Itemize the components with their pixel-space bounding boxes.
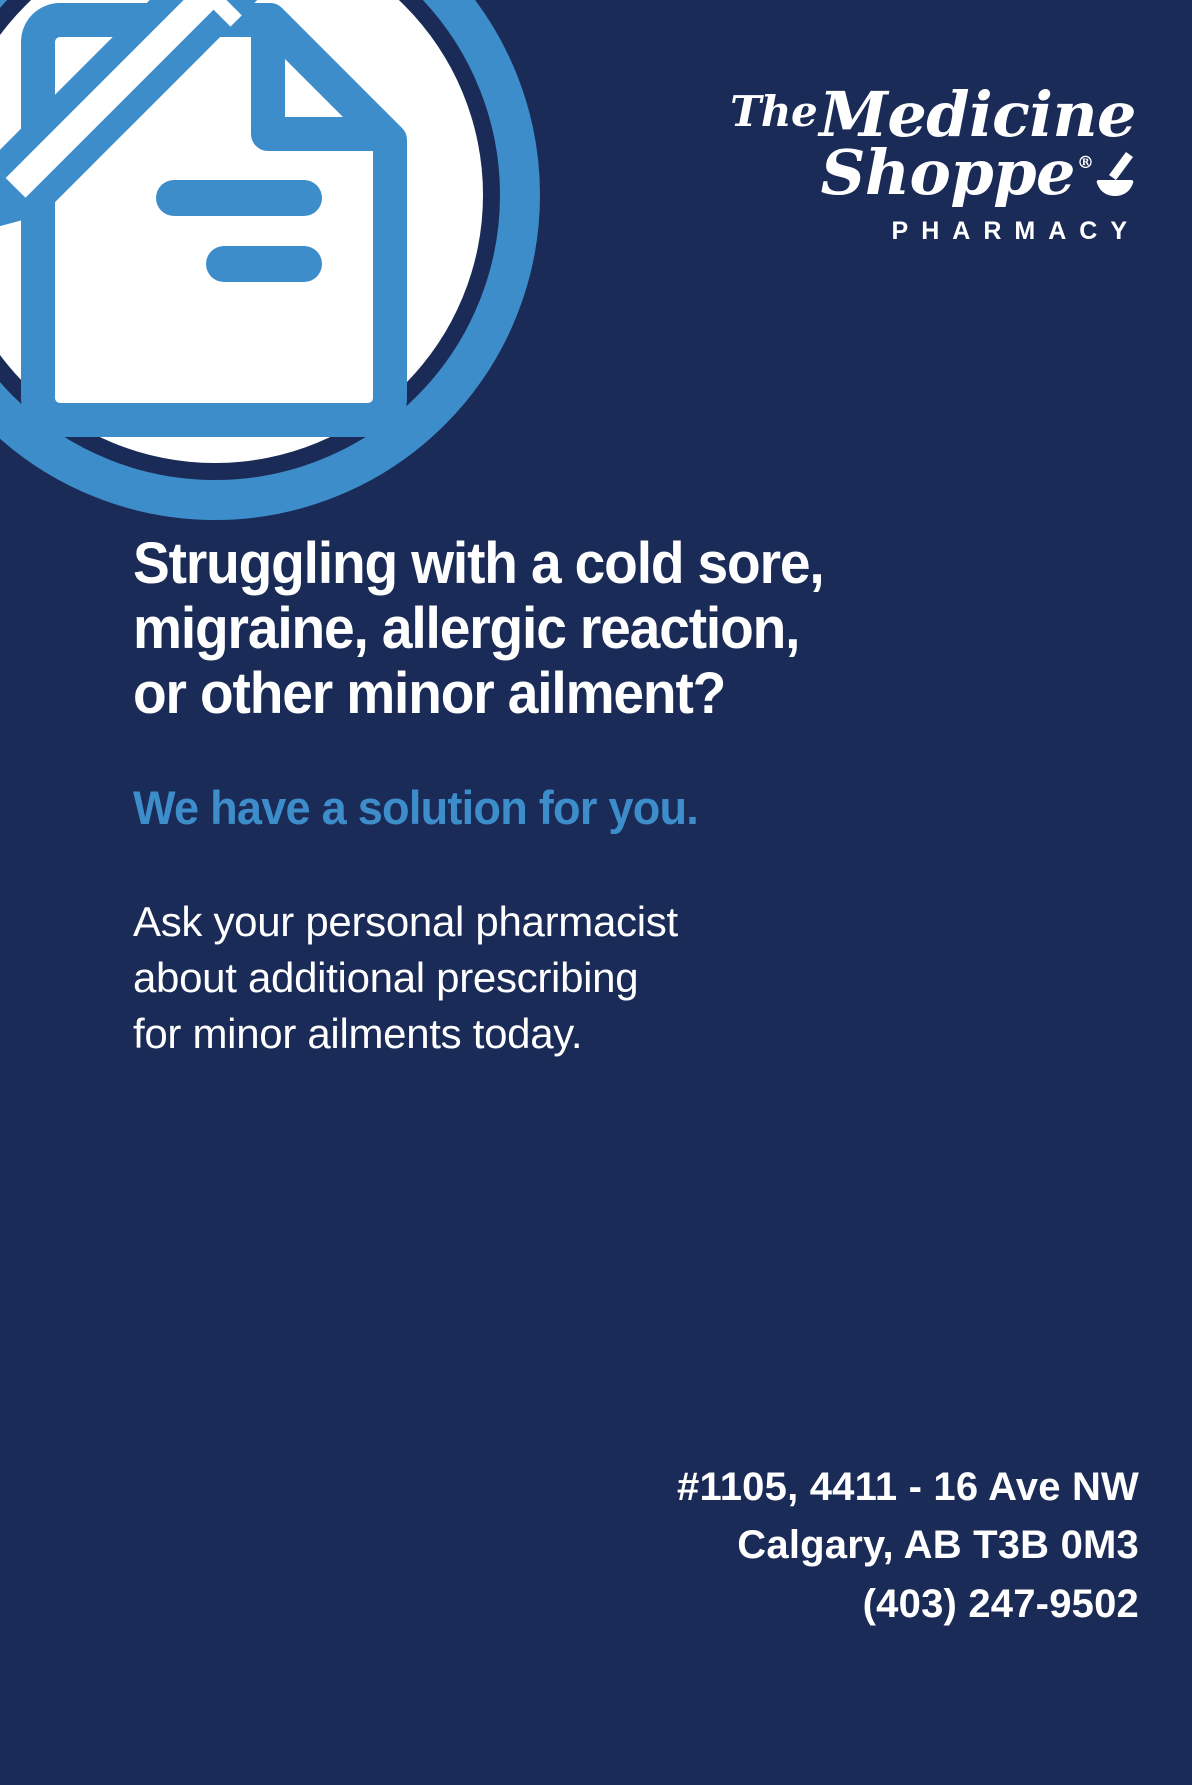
- body-copy: Ask your personal pharmacist about addit…: [133, 894, 678, 1062]
- logo-word-shoppe: Shoppe: [821, 136, 1075, 209]
- body-line-1: Ask your personal pharmacist: [133, 894, 678, 950]
- body-line-3: for minor ailments today.: [133, 1006, 678, 1062]
- brand-logo: TheMedicine Shoppe® PHARMACY: [710, 86, 1140, 246]
- registered-trademark-mark: ®: [1075, 153, 1094, 173]
- phone-number[interactable]: (403) 247-9502: [677, 1575, 1139, 1633]
- headline-line-3: or other minor ailment?: [133, 662, 988, 727]
- page-title: Struggling with a cold sore, migraine, a…: [133, 532, 988, 727]
- logo-tagline-pharmacy: PHARMACY: [710, 217, 1140, 246]
- pharmacy-poster: TheMedicine Shoppe® PHARMACY Struggling …: [0, 0, 1192, 1785]
- store-contact-block: #1105, 4411 - 16 Ave NW Calgary, AB T3B …: [677, 1458, 1139, 1633]
- headline-line-2: migraine, allergic reaction,: [133, 597, 988, 662]
- subheadline: We have a solution for you.: [133, 780, 698, 835]
- mortar-and-pestle-icon: [1096, 148, 1136, 206]
- headline-line-1: Struggling with a cold sore,: [133, 532, 988, 597]
- body-line-2: about additional prescribing: [133, 950, 678, 1006]
- prescription-pad-with-pencil-icon: [0, 0, 540, 520]
- address-city-province-postal: Calgary, AB T3B 0M3: [677, 1516, 1139, 1574]
- logo-word-the: The: [730, 87, 819, 136]
- prescription-pad-badge: [0, 0, 540, 520]
- logo-line-shoppe: Shoppe®: [710, 144, 1140, 206]
- address-street: #1105, 4411 - 16 Ave NW: [677, 1458, 1139, 1516]
